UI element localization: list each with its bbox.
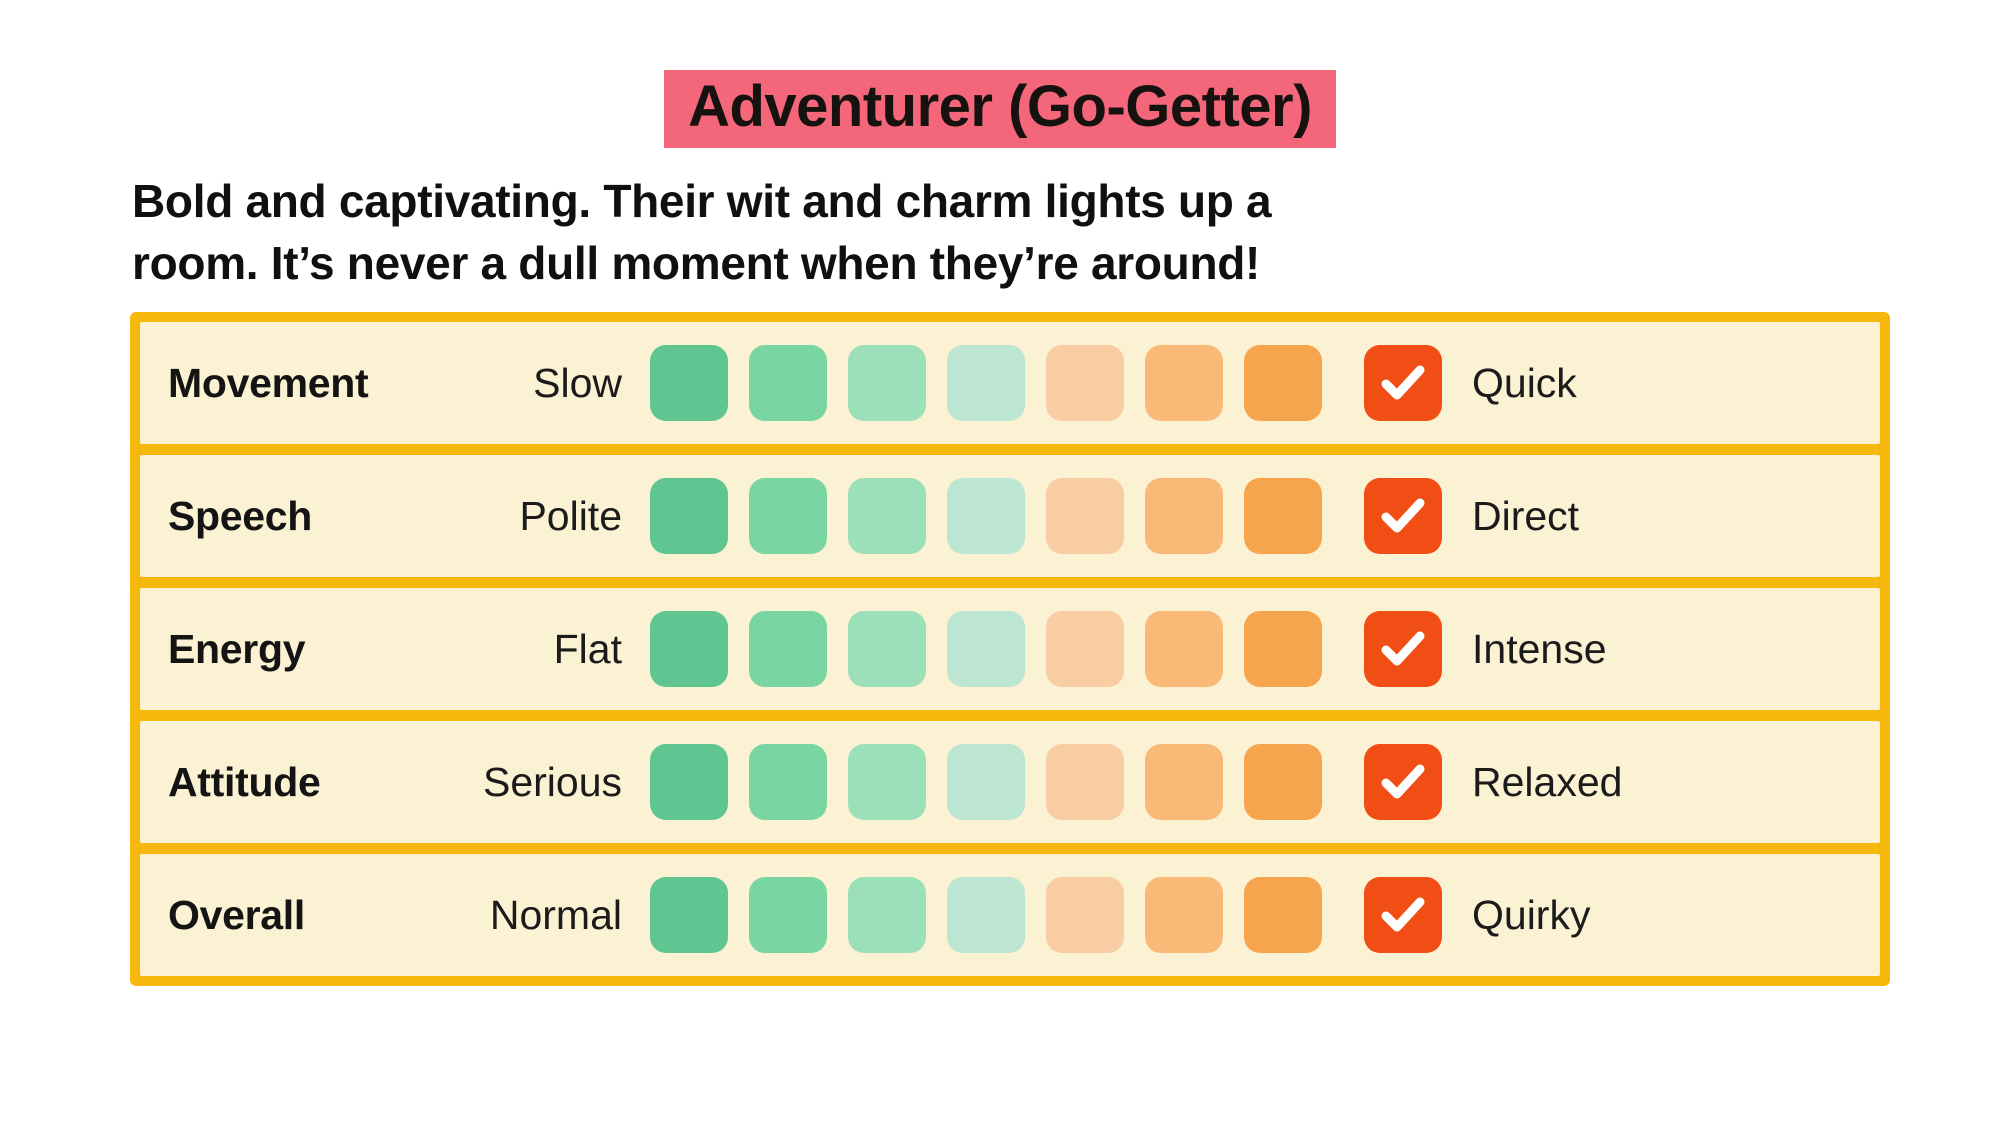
scale-option-1[interactable] xyxy=(650,877,728,953)
scale-right-label: Intense xyxy=(1442,626,1607,673)
page-title: Adventurer (Go-Getter) xyxy=(664,70,1336,148)
table-row: EnergyFlatIntense xyxy=(140,588,1880,710)
scale-track xyxy=(650,345,1442,421)
scale-track xyxy=(650,877,1442,953)
scale-option-2[interactable] xyxy=(749,345,827,421)
scale-option-8-checked[interactable] xyxy=(1364,478,1442,554)
description-line-2: room. It’s never a dull moment when they… xyxy=(132,232,1532,294)
scale-option-6[interactable] xyxy=(1145,611,1223,687)
scale-option-3[interactable] xyxy=(848,877,926,953)
description-text: Bold and captivating. Their wit and char… xyxy=(132,170,1532,294)
scale-right-label: Quick xyxy=(1442,360,1577,407)
scale-right-label: Quirky xyxy=(1442,892,1590,939)
scale-left-label: Polite xyxy=(390,493,650,540)
trait-name-label: Attitude xyxy=(140,759,390,806)
trait-name-label: Speech xyxy=(140,493,390,540)
trait-name-label: Energy xyxy=(140,626,390,673)
check-icon xyxy=(1375,355,1431,411)
check-icon xyxy=(1375,621,1431,677)
scale-option-2[interactable] xyxy=(749,877,827,953)
trait-name-label: Movement xyxy=(140,360,390,407)
scale-option-2[interactable] xyxy=(749,478,827,554)
scale-option-6[interactable] xyxy=(1145,478,1223,554)
scale-option-8-checked[interactable] xyxy=(1364,611,1442,687)
description-line-1: Bold and captivating. Their wit and char… xyxy=(132,170,1532,232)
scale-left-label: Slow xyxy=(390,360,650,407)
trait-name-label: Overall xyxy=(140,892,390,939)
scale-option-5[interactable] xyxy=(1046,345,1124,421)
trait-scale-table: MovementSlowQuickSpeechPoliteDirectEnerg… xyxy=(130,312,1890,986)
scale-option-3[interactable] xyxy=(848,744,926,820)
check-icon xyxy=(1375,754,1431,810)
scale-option-7[interactable] xyxy=(1244,611,1322,687)
table-row: MovementSlowQuick xyxy=(140,322,1880,444)
scale-right-label: Relaxed xyxy=(1442,759,1622,806)
scale-left-label: Normal xyxy=(390,892,650,939)
scale-option-5[interactable] xyxy=(1046,478,1124,554)
scale-option-8-checked[interactable] xyxy=(1364,345,1442,421)
scale-option-1[interactable] xyxy=(650,744,728,820)
scale-option-7[interactable] xyxy=(1244,877,1322,953)
table-row: SpeechPoliteDirect xyxy=(140,455,1880,577)
scale-option-4[interactable] xyxy=(947,611,1025,687)
scale-track xyxy=(650,478,1442,554)
scale-option-3[interactable] xyxy=(848,611,926,687)
table-row: OverallNormalQuirky xyxy=(140,854,1880,976)
scale-option-2[interactable] xyxy=(749,611,827,687)
scale-option-5[interactable] xyxy=(1046,877,1124,953)
scale-left-label: Flat xyxy=(390,626,650,673)
check-icon xyxy=(1375,887,1431,943)
scale-option-1[interactable] xyxy=(650,611,728,687)
table-row: AttitudeSeriousRelaxed xyxy=(140,721,1880,843)
scale-option-4[interactable] xyxy=(947,744,1025,820)
scale-option-7[interactable] xyxy=(1244,478,1322,554)
scale-option-7[interactable] xyxy=(1244,744,1322,820)
scale-option-6[interactable] xyxy=(1145,345,1223,421)
scale-option-6[interactable] xyxy=(1145,744,1223,820)
scale-option-8-checked[interactable] xyxy=(1364,877,1442,953)
scale-track xyxy=(650,744,1442,820)
scale-option-3[interactable] xyxy=(848,345,926,421)
scale-option-4[interactable] xyxy=(947,478,1025,554)
scale-track xyxy=(650,611,1442,687)
scale-option-2[interactable] xyxy=(749,744,827,820)
scale-left-label: Serious xyxy=(390,759,650,806)
check-icon xyxy=(1375,488,1431,544)
scale-option-5[interactable] xyxy=(1046,744,1124,820)
scale-option-6[interactable] xyxy=(1145,877,1223,953)
scale-option-4[interactable] xyxy=(947,877,1025,953)
scale-option-3[interactable] xyxy=(848,478,926,554)
scale-option-4[interactable] xyxy=(947,345,1025,421)
scale-option-8-checked[interactable] xyxy=(1364,744,1442,820)
scale-option-1[interactable] xyxy=(650,478,728,554)
title-banner-container: Adventurer (Go-Getter) xyxy=(0,70,2000,148)
scale-right-label: Direct xyxy=(1442,493,1579,540)
scale-option-7[interactable] xyxy=(1244,345,1322,421)
scale-option-5[interactable] xyxy=(1046,611,1124,687)
scale-option-1[interactable] xyxy=(650,345,728,421)
